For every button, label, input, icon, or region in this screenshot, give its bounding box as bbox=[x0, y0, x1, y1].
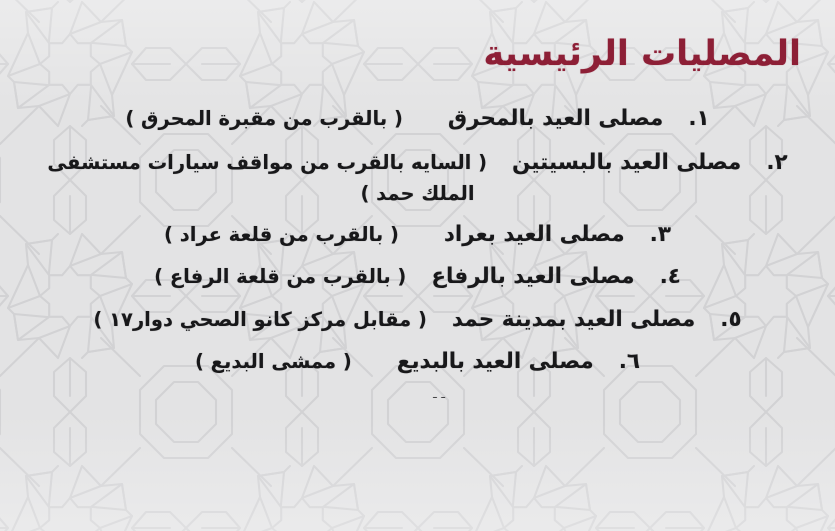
list-item-index: ٢. bbox=[766, 150, 787, 175]
list-item-name: مصلى العيد بالبديع bbox=[397, 349, 594, 374]
list-item-name: مصلى العيد بالبسيتين bbox=[512, 150, 741, 175]
list-item: ١. مصلى العيد بالمحرق ( بالقرب من مقبرة … bbox=[0, 104, 835, 135]
list-item-name: مصلى العيد بعراد bbox=[444, 222, 625, 247]
poster-canvas: المصليات الرئيسية ١. مصلى العيد بالمحرق … bbox=[0, 0, 835, 531]
list-item-note: ( السايه بالقرب من مواقف سيارات مستشفى ا… bbox=[47, 151, 487, 205]
list-item-name: مصلى العيد بمدينة حمد bbox=[452, 307, 695, 332]
list-item-index: ٧. bbox=[424, 392, 445, 398]
list-item-index: ٤. bbox=[660, 264, 681, 289]
list-item: ٢. مصلى العيد بالبسيتين ( السايه بالقرب … bbox=[0, 147, 835, 209]
list-item-name: مصلى العيد بالمحرق bbox=[448, 106, 664, 131]
mosque-list: ١. مصلى العيد بالمحرق ( بالقرب من مقبرة … bbox=[0, 104, 835, 398]
list-item-note: ( بالقرب من مقبرة المحرق ) bbox=[125, 107, 403, 130]
list-item-name: مصلى العيد بالرفاع bbox=[431, 264, 634, 289]
list-item-index: ١. bbox=[688, 106, 709, 131]
list-item-index: ٥. bbox=[720, 307, 741, 332]
list-item: ٦. مصلى العيد بالبديع ( ممشى البديع ) bbox=[0, 347, 835, 378]
list-item: ٣. مصلى العيد بعراد ( بالقرب من قلعة عرا… bbox=[0, 220, 835, 251]
list-item: ٤. مصلى العيد بالرفاع ( بالقرب من قلعة ا… bbox=[0, 262, 835, 293]
list-item-note: ( بالقرب من قلعة عراد ) bbox=[164, 223, 399, 246]
list-item-note: ( ممشى البديع ) bbox=[195, 350, 352, 373]
list-item-index: ٦. bbox=[619, 349, 640, 374]
list-item-note: ( مقابل مركز كانو الصحي دوار١٧ ) bbox=[93, 308, 426, 331]
page-title: المصليات الرئيسية bbox=[483, 32, 801, 78]
list-item-index: ٣. bbox=[650, 222, 671, 247]
poster-content: المصليات الرئيسية ١. مصلى العيد بالمحرق … bbox=[0, 0, 835, 531]
list-item: ٥. مصلى العيد بمدينة حمد ( مقابل مركز كا… bbox=[0, 305, 835, 336]
list-item-note: ( بالقرب من قلعة الرفاع ) bbox=[154, 265, 406, 288]
list-item: ٧. bbox=[0, 390, 835, 398]
